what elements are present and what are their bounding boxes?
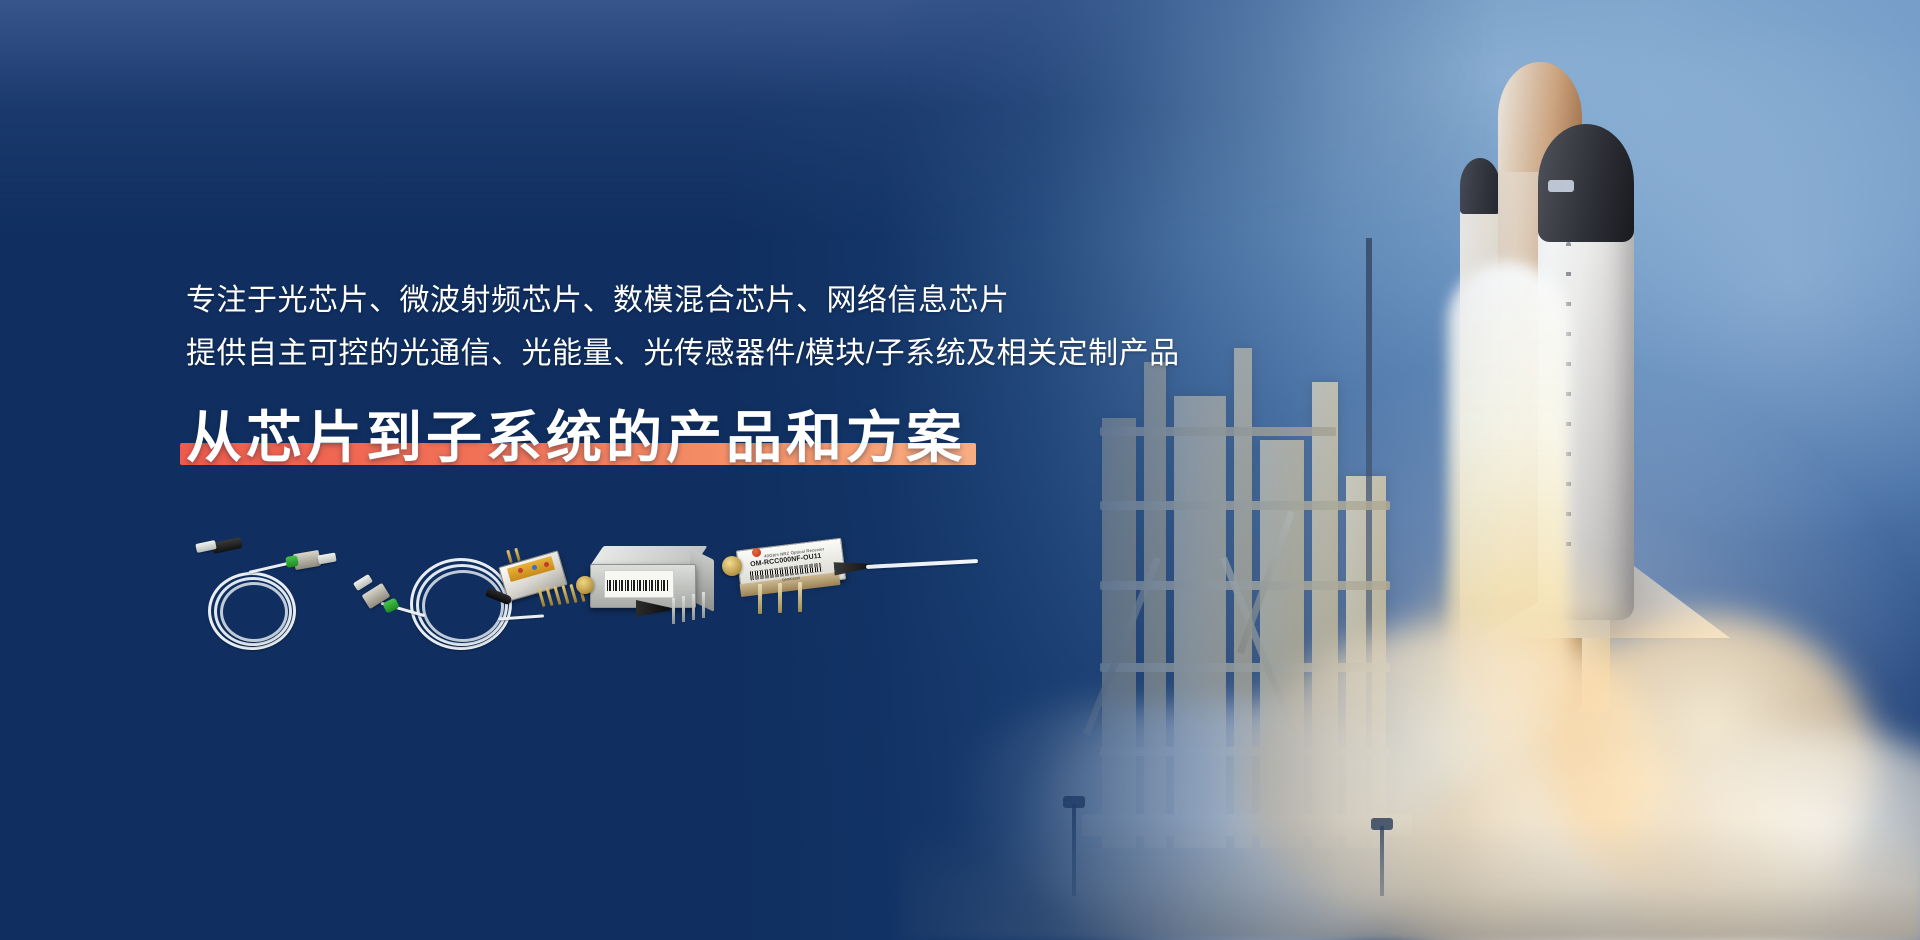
- page-title: 从芯片到子系统的产品和方案: [186, 405, 966, 471]
- product-optical-receiver: 40Gb/s NRZ Optical Receiver OM-RCC000NF-…: [738, 538, 1038, 648]
- hero-copy: 专注于光芯片、微波射频芯片、数模混合芯片、网络信息芯片 提供自主可控的光通信、光…: [186, 278, 1306, 471]
- hero-banner: 专注于光芯片、微波射频芯片、数模混合芯片、网络信息芯片 提供自主可控的光通信、光…: [0, 0, 1920, 940]
- top-overlay-gradient: [0, 0, 1920, 240]
- subtitle-line-2: 提供自主可控的光通信、光能量、光传感器件/模块/子系统及相关定制产品: [186, 331, 1306, 378]
- product-strip: 40Gb/s NRZ Optical Receiver OM-RCC000NF-…: [190, 530, 1200, 660]
- product-rf-module: [590, 546, 740, 652]
- headline-wrapper: 从芯片到子系统的产品和方案: [186, 405, 966, 471]
- subtitle-line-1: 专注于光芯片、微波射频芯片、数模混合芯片、网络信息芯片: [186, 278, 1306, 325]
- product-butterfly-laser: [482, 544, 602, 644]
- product-fiber-pigtail-1: [190, 536, 350, 646]
